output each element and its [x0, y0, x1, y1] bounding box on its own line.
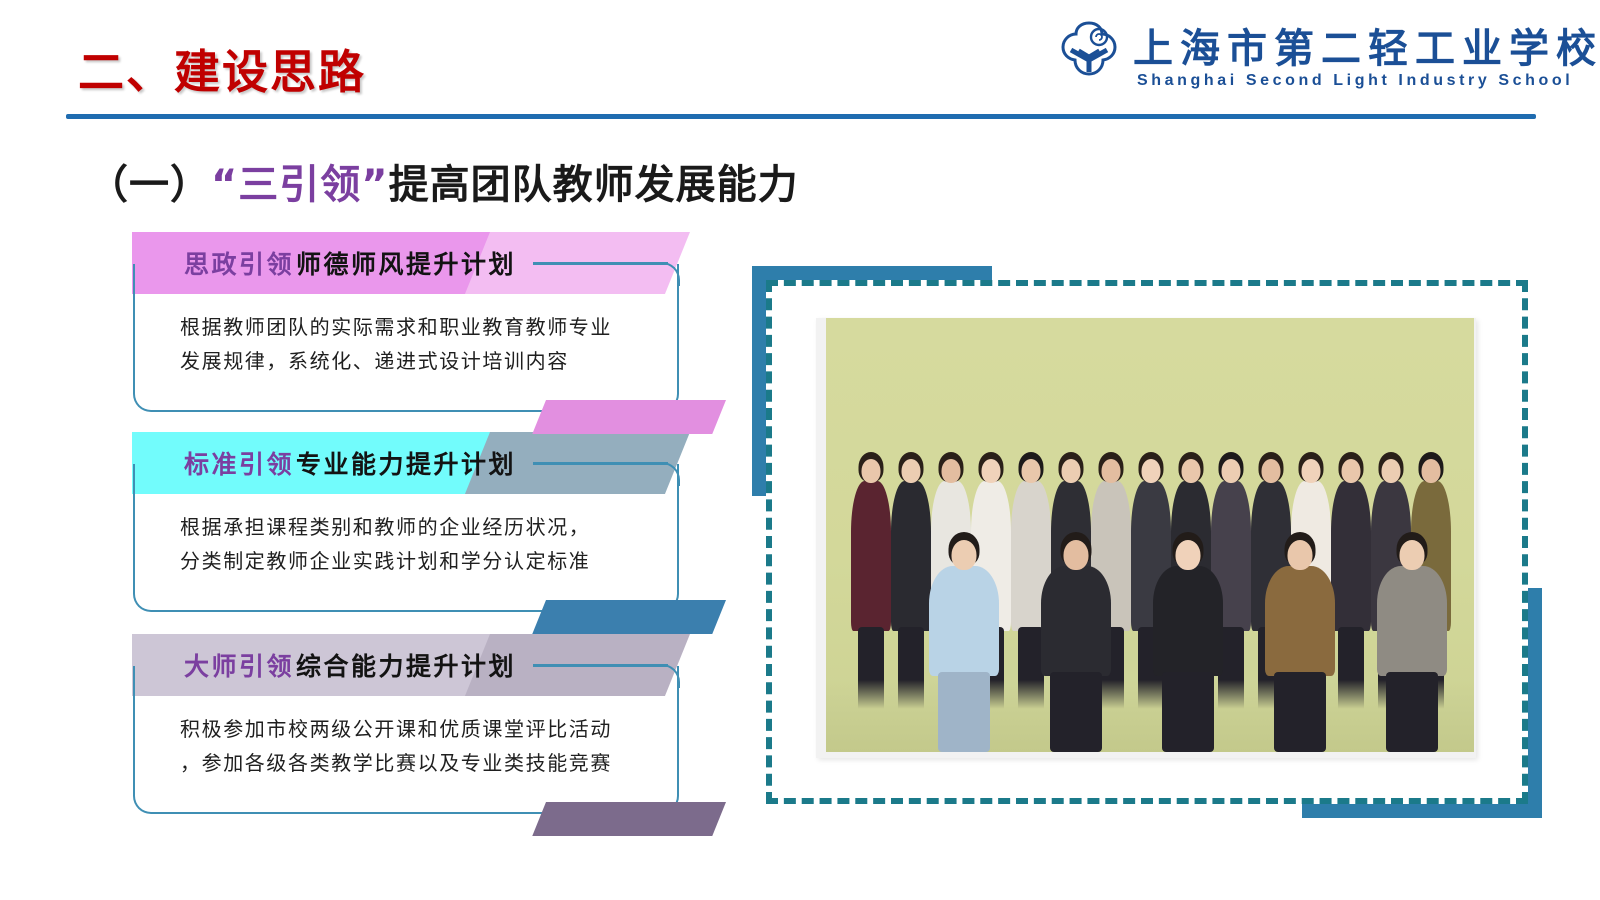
person-head — [1422, 459, 1441, 483]
card-title-rest: 综合能力提升计划 — [296, 647, 516, 683]
person-head — [952, 540, 977, 570]
plan-card-sizheng[interactable]: 思政引领师德师风提升计划 根据教师团队的实际需求和职业教育教师专业 发展规律，系… — [118, 232, 718, 428]
photo-mat — [816, 318, 1476, 758]
slide-header: 二、建设思路 上海市第二轻工业学校 Shanghai Second Light … — [0, 0, 1600, 130]
person-torso — [851, 481, 891, 631]
person-legs — [1274, 672, 1326, 752]
person-head — [902, 459, 921, 483]
card-title: 大师引领综合能力提升计划 — [132, 634, 652, 696]
card-decoration — [532, 400, 726, 434]
card-title: 标准引领专业能力提升计划 — [132, 432, 652, 494]
photo-frame-dashed-border — [766, 280, 1528, 804]
school-logo: 上海市第二轻工业学校 Shanghai Second Light Industr… — [1055, 14, 1545, 100]
logo-name-en: Shanghai Second Light Industry School — [1137, 72, 1573, 90]
person-head — [1302, 459, 1321, 483]
person-torso — [1041, 566, 1111, 676]
school-emblem-icon — [1055, 20, 1123, 86]
person-torso — [929, 566, 999, 676]
card-body-line2: 发展规律，系统化、递进式设计培训内容 — [180, 344, 650, 378]
card-title: 思政引领师德师风提升计划 — [132, 232, 652, 294]
group-photo-image — [826, 318, 1474, 752]
subtitle-rest: 提高团队教师发展能力 — [389, 162, 799, 208]
photo-person-seated — [1258, 532, 1342, 752]
person-head — [1400, 540, 1425, 570]
card-body: 根据教师团队的实际需求和职业教育教师专业 发展规律，系统化、递进式设计培训内容 — [180, 310, 650, 378]
person-head — [1022, 459, 1041, 483]
person-head — [1382, 459, 1401, 483]
person-torso — [1153, 566, 1223, 676]
person-head — [1062, 459, 1081, 483]
person-head — [1064, 540, 1089, 570]
person-head — [942, 459, 961, 483]
person-torso — [1377, 566, 1447, 676]
card-frame-corner — [656, 262, 680, 286]
photo-frame — [752, 266, 1542, 818]
card-title-rest: 专业能力提升计划 — [296, 445, 516, 481]
person-head — [1176, 540, 1201, 570]
person-head — [1288, 540, 1313, 570]
card-title-lead: 思政引领 — [184, 245, 294, 281]
person-legs — [1386, 672, 1438, 752]
card-body-line2: ，参加各级各类教学比赛以及专业类技能竞赛 — [180, 746, 650, 780]
photo-person-seated — [1034, 532, 1118, 752]
person-head — [862, 459, 881, 483]
card-decoration — [532, 600, 726, 634]
subtitle-quote-open: “ — [211, 162, 238, 208]
plan-card-biaozhun[interactable]: 标准引领专业能力提升计划 根据承担课程类别和教师的企业经历状况， 分类制定教师企… — [118, 432, 718, 628]
person-legs — [1162, 672, 1214, 752]
card-title-lead: 标准引领 — [184, 445, 294, 481]
person-head — [1142, 459, 1161, 483]
card-title-lead: 大师引领 — [184, 647, 294, 683]
section-subtitle: （一）“三引领”提高团队教师发展能力 — [88, 152, 799, 210]
card-body-line1: 根据承担课程类别和教师的企业经历状况， — [180, 510, 650, 544]
card-body: 积极参加市校两级公开课和优质课堂评比活动 ，参加各级各类教学比赛以及专业类技能竞… — [180, 712, 650, 780]
person-head — [1262, 459, 1281, 483]
person-head — [982, 459, 1001, 483]
card-frame-corner — [656, 462, 680, 486]
person-torso — [1265, 566, 1335, 676]
page-title: 二、建设思路 — [78, 36, 366, 102]
photo-person-seated — [922, 532, 1006, 752]
plan-card-dashi[interactable]: 大师引领综合能力提升计划 积极参加市校两级公开课和优质课堂评比活动 ，参加各级各… — [118, 634, 718, 830]
person-head — [1182, 459, 1201, 483]
person-head — [1222, 459, 1241, 483]
photo-person-seated — [1146, 532, 1230, 752]
logo-name-cn: 上海市第二轻工业学校 — [1133, 16, 1600, 74]
header-divider — [66, 114, 1536, 119]
person-legs — [1050, 672, 1102, 752]
card-body-line2: 分类制定教师企业实践计划和学分认定标准 — [180, 544, 650, 578]
subtitle-accent: 三引领 — [238, 162, 361, 208]
card-body-line1: 根据教师团队的实际需求和职业教育教师专业 — [180, 310, 650, 344]
card-title-rest: 师德师风提升计划 — [296, 245, 516, 281]
card-body: 根据承担课程类别和教师的企业经历状况， 分类制定教师企业实践计划和学分认定标准 — [180, 510, 650, 578]
subtitle-prefix: （一） — [88, 162, 211, 208]
person-head — [1102, 459, 1121, 483]
card-decoration — [532, 802, 726, 836]
card-body-line1: 积极参加市校两级公开课和优质课堂评比活动 — [180, 712, 650, 746]
card-frame-corner — [656, 664, 680, 688]
person-legs — [938, 672, 990, 752]
photo-person-seated — [1370, 532, 1454, 752]
person-head — [1342, 459, 1361, 483]
subtitle-quote-close: ” — [361, 162, 388, 208]
